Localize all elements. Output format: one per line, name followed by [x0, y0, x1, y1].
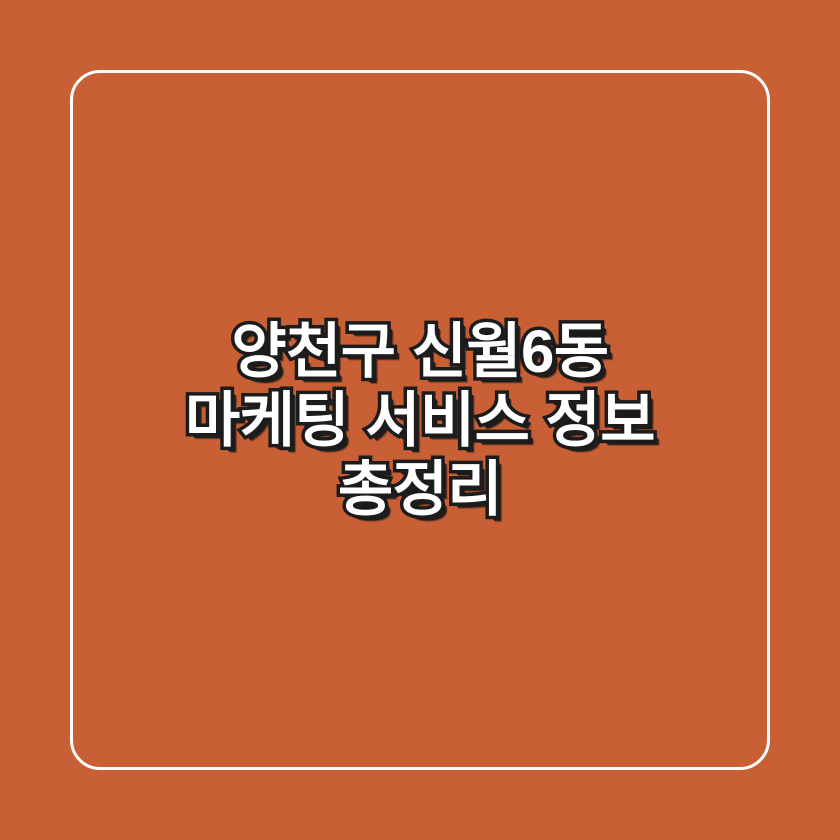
headline-line-2: 마케팅 서비스 정보 — [90, 386, 750, 455]
title-card: 양천구 신월6동 마케팅 서비스 정보 총정리 — [0, 0, 840, 840]
headline-line-3: 총정리 — [90, 455, 750, 524]
headline-block: 양천구 신월6동 마케팅 서비스 정보 총정리 — [0, 0, 840, 840]
headline-line-1: 양천구 신월6동 — [90, 317, 750, 386]
